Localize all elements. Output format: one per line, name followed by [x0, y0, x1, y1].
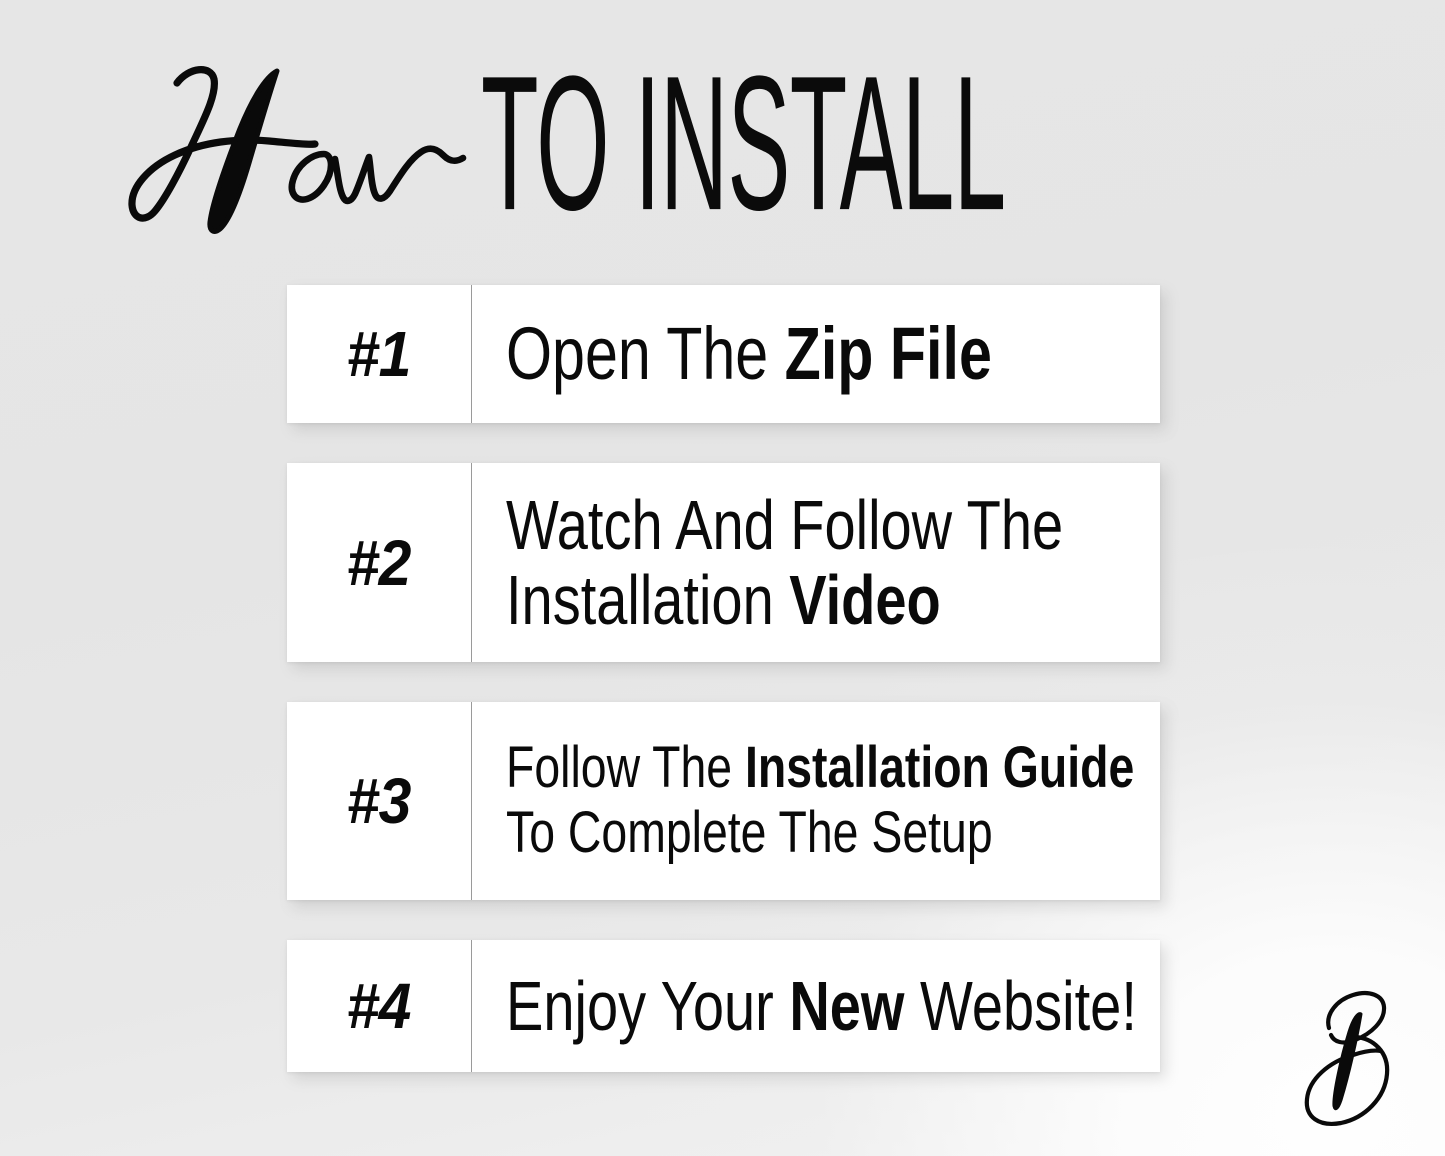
step-line-4-1: Enjoy Your New Website! — [506, 969, 1137, 1043]
step-card-2[interactable]: #2 Watch And Follow The Installation Vid… — [287, 463, 1160, 662]
step-text-normal: Watch And Follow The — [506, 486, 1063, 564]
step-text-normal: Installation — [506, 561, 789, 639]
step-card-4[interactable]: #4 Enjoy Your New Website! — [287, 940, 1160, 1072]
step-text-column-1: Open The Zip File — [472, 285, 1160, 423]
step-number-column-3: #3 — [287, 702, 472, 900]
step-text-column-2: Watch And Follow The Installation Video — [472, 463, 1228, 662]
step-number-column-4: #4 — [287, 940, 472, 1072]
step-number-4: #4 — [347, 969, 411, 1043]
heading-block-word: TO INSTALL — [481, 64, 1006, 223]
step-number-1: #1 — [347, 317, 411, 391]
step-text-column-3: Follow The Installation Guide To Complet… — [472, 702, 1317, 900]
step-number-3: #3 — [347, 764, 411, 838]
brand-logo-b-icon: B — [1285, 982, 1409, 1132]
step-text-normal: Open The — [506, 312, 785, 395]
step-line-3-2: To Complete The Setup — [506, 801, 1134, 866]
step-card-1[interactable]: #1 Open The Zip File — [287, 285, 1160, 423]
step-text-normal: Enjoy Your — [506, 967, 789, 1045]
steps-list: #1 Open The Zip File #2 Watch And Follow… — [287, 285, 1160, 1072]
script-how-word: How — [119, 59, 479, 239]
step-number-2: #2 — [347, 526, 411, 600]
step-card-3[interactable]: #3 Follow The Installation Guide To Comp… — [287, 702, 1160, 900]
step-text-normal: To Complete The Setup — [506, 800, 993, 865]
step-text-bold: Video — [789, 561, 940, 639]
step-text-normal: Follow The — [506, 735, 745, 800]
step-text-bold: Installation Guide — [745, 735, 1134, 800]
page-title: How TO INSTALL — [0, 52, 1445, 237]
step-line-2-2: Installation Video — [506, 563, 1063, 637]
step-number-column-1: #1 — [287, 285, 472, 423]
step-line-1-1: Open The Zip File — [506, 316, 1008, 391]
step-text-bold: Zip File — [785, 312, 992, 395]
step-number-column-2: #2 — [287, 463, 472, 662]
poster-canvas: How TO INSTALL #1 Open The Zip File — [0, 0, 1445, 1156]
step-line-3-1: Follow The Installation Guide — [506, 736, 1134, 801]
step-text-column-4: Enjoy Your New Website! — [472, 940, 1321, 1072]
step-text-tail: Website! — [904, 967, 1136, 1045]
step-text-bold: New — [789, 967, 904, 1045]
step-line-2-1: Watch And Follow The — [506, 488, 1063, 562]
